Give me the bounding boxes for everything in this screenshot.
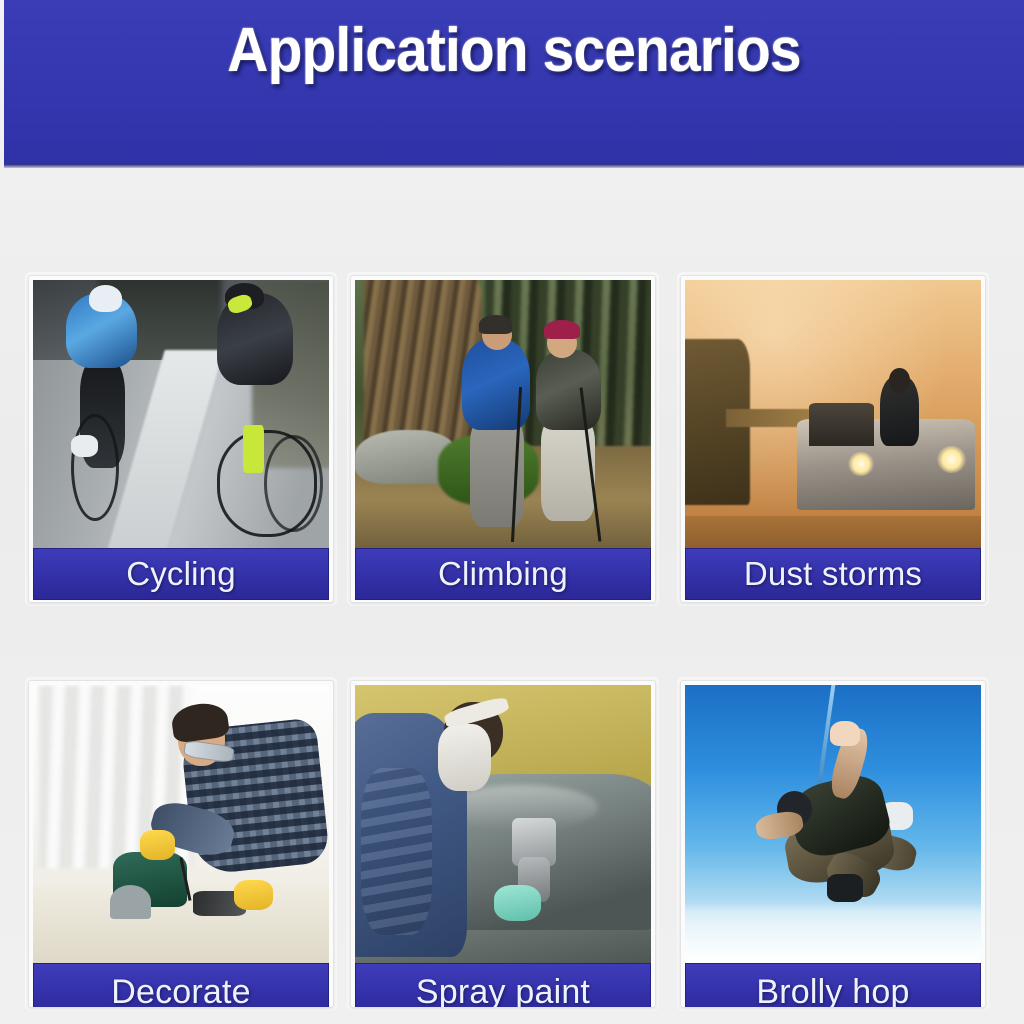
scenario-card-spray-paint[interactable]: Spray paint xyxy=(350,680,656,1008)
cycling-photo xyxy=(33,280,329,548)
scenario-row: Cycling xyxy=(28,275,998,603)
scenario-card-caption: Cycling xyxy=(33,548,329,600)
scenario-card-brolly-hop[interactable]: Brolly hop xyxy=(680,680,986,1008)
page-title: Application scenarios xyxy=(45,18,983,83)
header-banner: Application scenarios xyxy=(4,0,1024,168)
scenario-card-climbing[interactable]: Climbing xyxy=(350,275,656,603)
scenario-card-caption: Dust storms xyxy=(685,548,981,600)
scenario-card-decorate[interactable]: Decorate xyxy=(28,680,334,1008)
application-scenarios-page: Application scenarios xyxy=(0,0,1024,1024)
scenario-grid: Cycling xyxy=(28,275,998,1008)
spray-paint-photo xyxy=(355,685,651,963)
brolly-hop-photo xyxy=(685,685,981,963)
scenario-card-cycling[interactable]: Cycling xyxy=(28,275,334,603)
scenario-card-dust-storms[interactable]: Dust storms xyxy=(680,275,986,603)
scenario-row: Decorate Spray paint xyxy=(28,680,998,1008)
dust-storms-photo xyxy=(685,280,981,548)
climbing-photo xyxy=(355,280,651,548)
scenario-card-caption: Climbing xyxy=(355,548,651,600)
decorate-photo xyxy=(33,685,329,963)
banner-bottom-edge xyxy=(4,164,1024,168)
scenario-card-caption: Brolly hop xyxy=(685,963,981,1008)
scenario-card-caption: Spray paint xyxy=(355,963,651,1008)
scenario-card-caption: Decorate xyxy=(33,963,329,1008)
